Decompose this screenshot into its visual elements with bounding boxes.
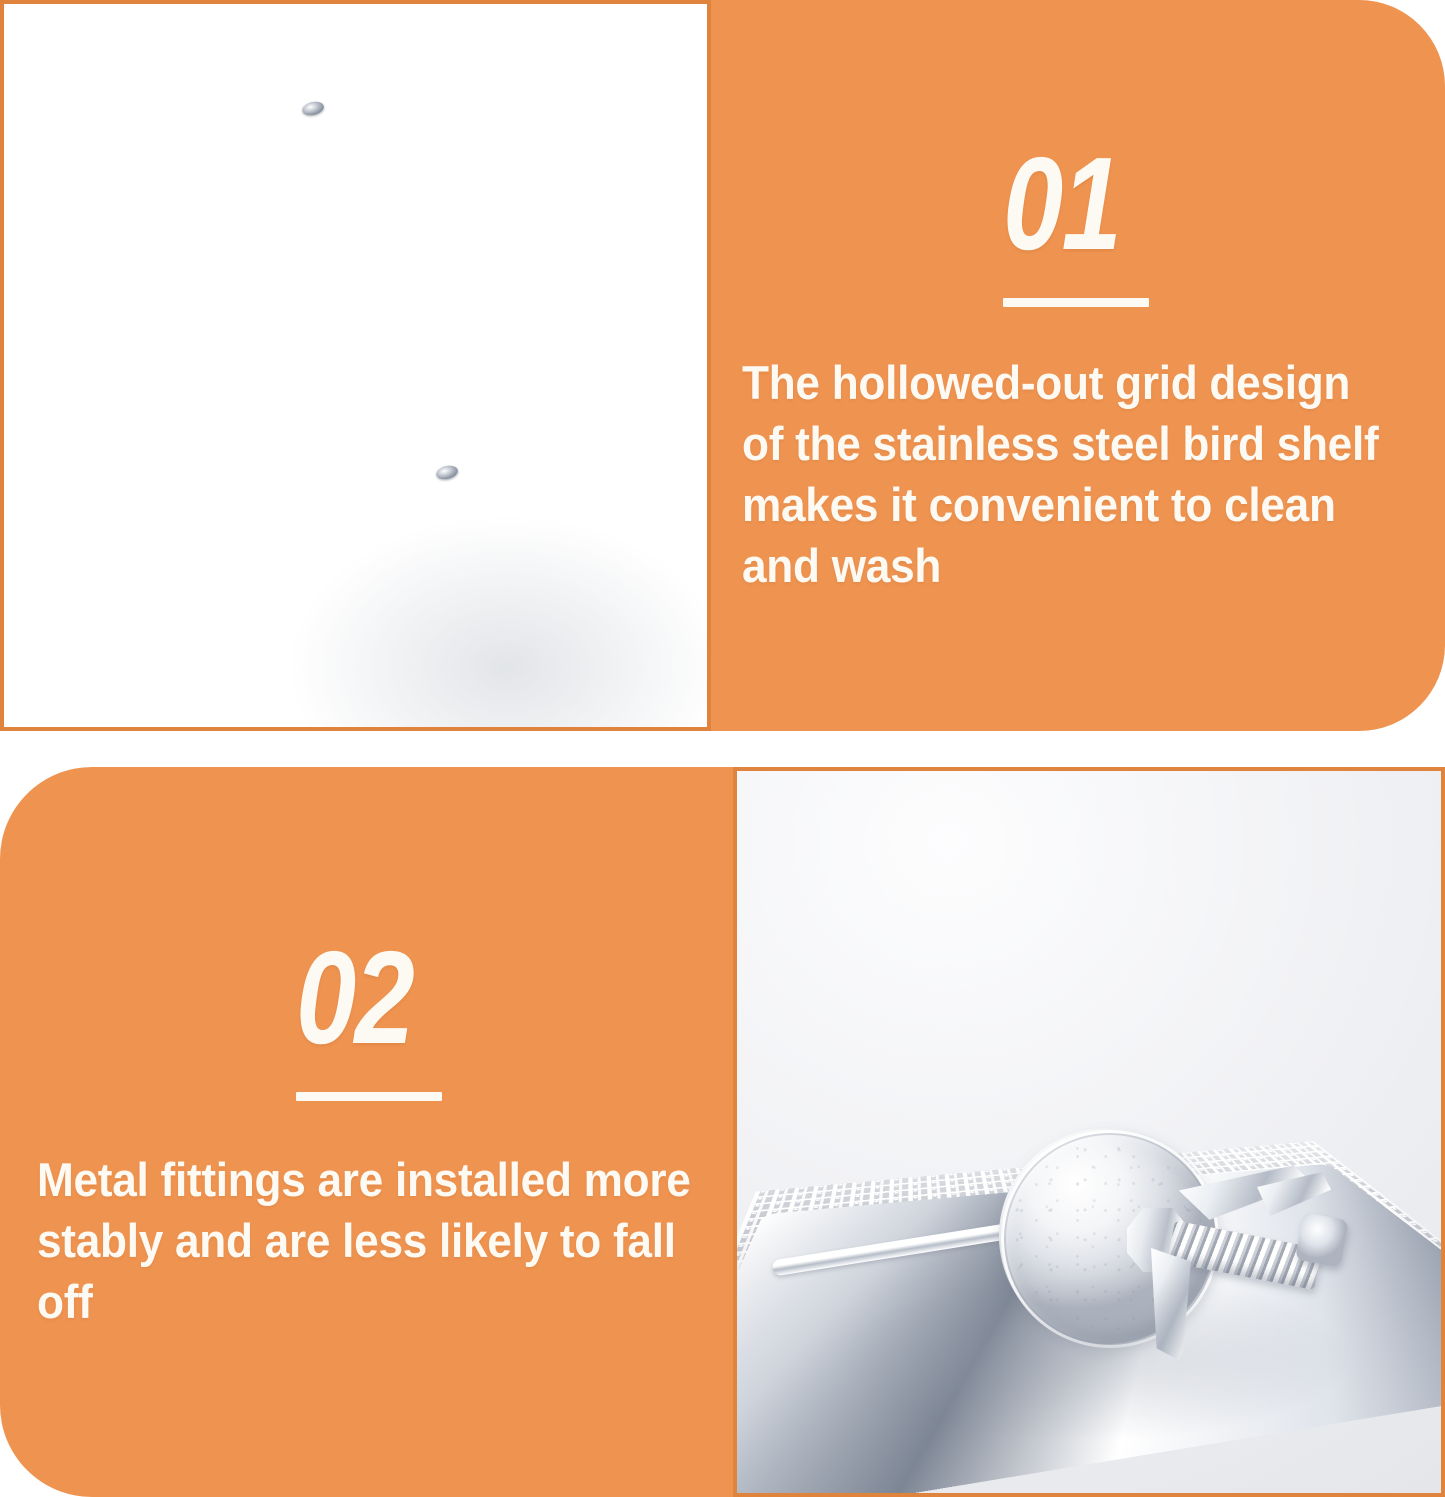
feature-row-02: 02 Metal fittings are installed more sta… [0, 767, 1445, 1497]
feature-01-number: 01 [1003, 138, 1123, 270]
bolt-tip [1295, 1212, 1349, 1268]
feature-02-photo-image [737, 771, 1441, 1493]
feature-row-01: 01 The hollowed-out grid design of the s… [0, 0, 1445, 731]
feature-02-number: 02 [296, 932, 416, 1064]
feature-02-description: Metal fittings are installed more stably… [37, 1149, 695, 1332]
feature-01-number-block: 01 [1003, 138, 1149, 307]
infographic-board: 01 The hollowed-out grid design of the s… [0, 0, 1445, 1497]
studio-shadow [777, 1263, 1417, 1453]
studio-shadow [247, 487, 707, 727]
feature-01-photo-image [4, 4, 707, 727]
feature-01-description: The hollowed-out grid design of the stai… [742, 352, 1400, 596]
feature-02-photo [733, 767, 1445, 1497]
feature-02-copy-panel: 02 Metal fittings are installed more sta… [0, 767, 733, 1497]
feature-01-photo [0, 0, 711, 731]
horizontal-rule-divider-icon [296, 1092, 442, 1101]
feature-01-copy-panel: 01 The hollowed-out grid design of the s… [711, 0, 1445, 731]
studio-highlight [187, 74, 647, 494]
horizontal-rule-divider-icon [1003, 298, 1149, 307]
feature-02-number-block: 02 [296, 932, 442, 1101]
